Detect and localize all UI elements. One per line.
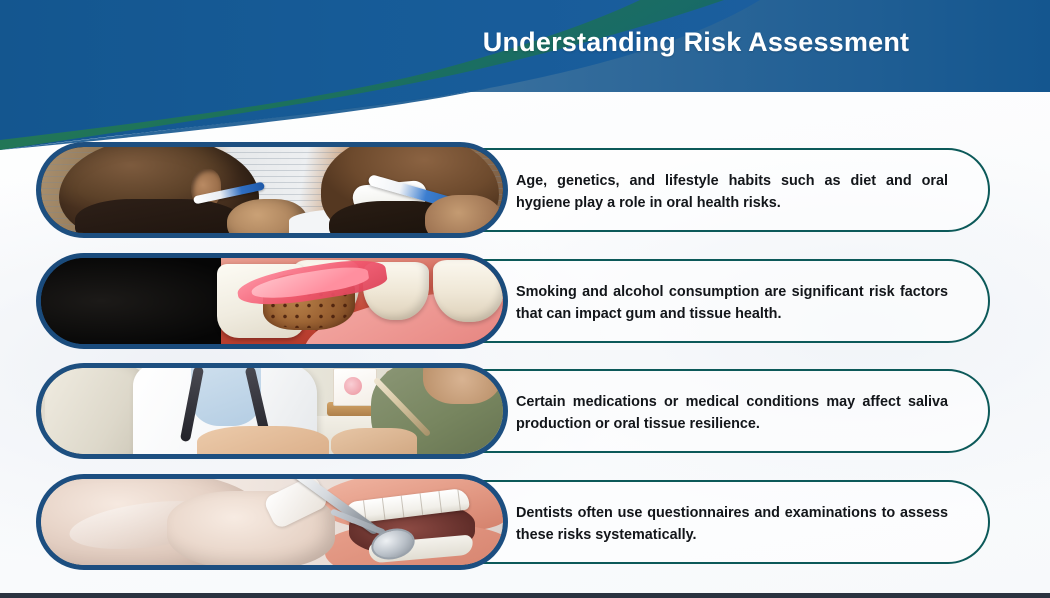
row-image-dentist-patient-consultation	[36, 363, 508, 459]
row-image-gum-disease-anatomy-model	[36, 253, 508, 349]
content-rows: Age, genetics, and lifestyle habits such…	[0, 0, 1050, 598]
bottom-strip	[0, 593, 1050, 598]
beard-shape	[75, 199, 245, 233]
content-row: Dentists often use questionnaires and ex…	[38, 480, 990, 564]
content-row: Age, genetics, and lifestyle habits such…	[38, 148, 990, 232]
row-image-man-brushing-teeth-mirror	[36, 142, 508, 238]
row-text: Smoking and alcohol consumption are sign…	[516, 261, 948, 345]
row-text: Age, genetics, and lifestyle habits such…	[516, 150, 948, 234]
picture-art-shape	[344, 377, 362, 395]
hand-front-shape	[425, 195, 501, 233]
dark-backdrop-shape	[41, 258, 241, 344]
content-row: Smoking and alcohol consumption are sign…	[38, 259, 990, 343]
dentist-hands-shape	[197, 426, 329, 454]
row-text: Dentists often use questionnaires and ex…	[516, 482, 948, 566]
image-artwork	[41, 368, 503, 454]
patient-arm-shape	[331, 428, 417, 454]
image-artwork	[41, 147, 503, 233]
tooth-shape	[433, 260, 503, 322]
content-row: Certain medications or medical condition…	[38, 369, 990, 453]
row-text: Certain medications or medical condition…	[516, 371, 948, 455]
row-image-dental-examination-tools	[36, 474, 508, 570]
image-artwork	[41, 258, 503, 344]
image-artwork	[41, 479, 503, 565]
slide: Understanding Risk Assessment Age, genet…	[0, 0, 1050, 598]
